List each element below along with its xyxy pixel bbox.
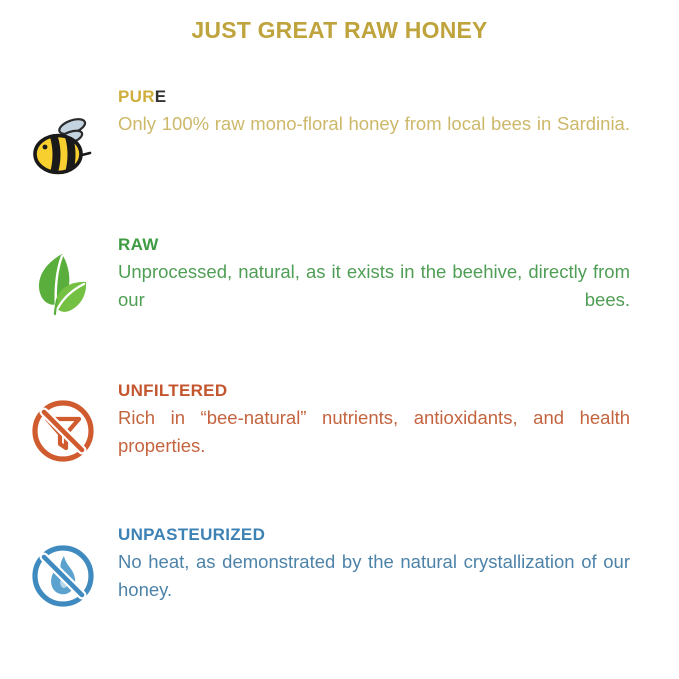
feature-heading-unfiltered: UNFILTERED [118, 380, 630, 401]
feature-item-raw: RAW Unprocessed, natural, as it exists i… [0, 234, 679, 380]
no-filter-icon [28, 396, 98, 466]
feature-heading-pure-lead: PUR [118, 87, 155, 106]
feature-heading-pure-tail: E [155, 87, 167, 106]
leaf-icon [28, 248, 98, 318]
feature-description-pure: Only 100% raw mono-floral honey from loc… [118, 110, 630, 165]
no-heat-icon [28, 541, 98, 611]
feature-description-unpasteurized: No heat, as demonstrated by the natural … [118, 548, 630, 630]
feature-item-pure: PURE Only 100% raw mono-floral honey fro… [0, 86, 679, 234]
feature-item-unpasteurized: UNPASTEURIZED No heat, as demonstrated b… [0, 524, 679, 644]
honey-features-panel: JUST GREAT RAW HONEY [0, 0, 679, 679]
feature-description-raw: Unprocessed, natural, as it exists in th… [118, 258, 630, 340]
feature-item-unfiltered: UNFILTERED Rich in “bee-natural” nutrien… [0, 380, 679, 524]
feature-heading-raw: RAW [118, 234, 630, 255]
feature-list: PURE Only 100% raw mono-floral honey fro… [0, 86, 679, 644]
feature-heading-unpasteurized: UNPASTEURIZED [118, 524, 630, 545]
page-title: JUST GREAT RAW HONEY [0, 17, 679, 45]
bee-icon [28, 112, 98, 182]
feature-description-unfiltered: Rich in “bee-natural” nutrients, antioxi… [118, 404, 630, 486]
feature-heading-pure: PURE [118, 86, 630, 107]
